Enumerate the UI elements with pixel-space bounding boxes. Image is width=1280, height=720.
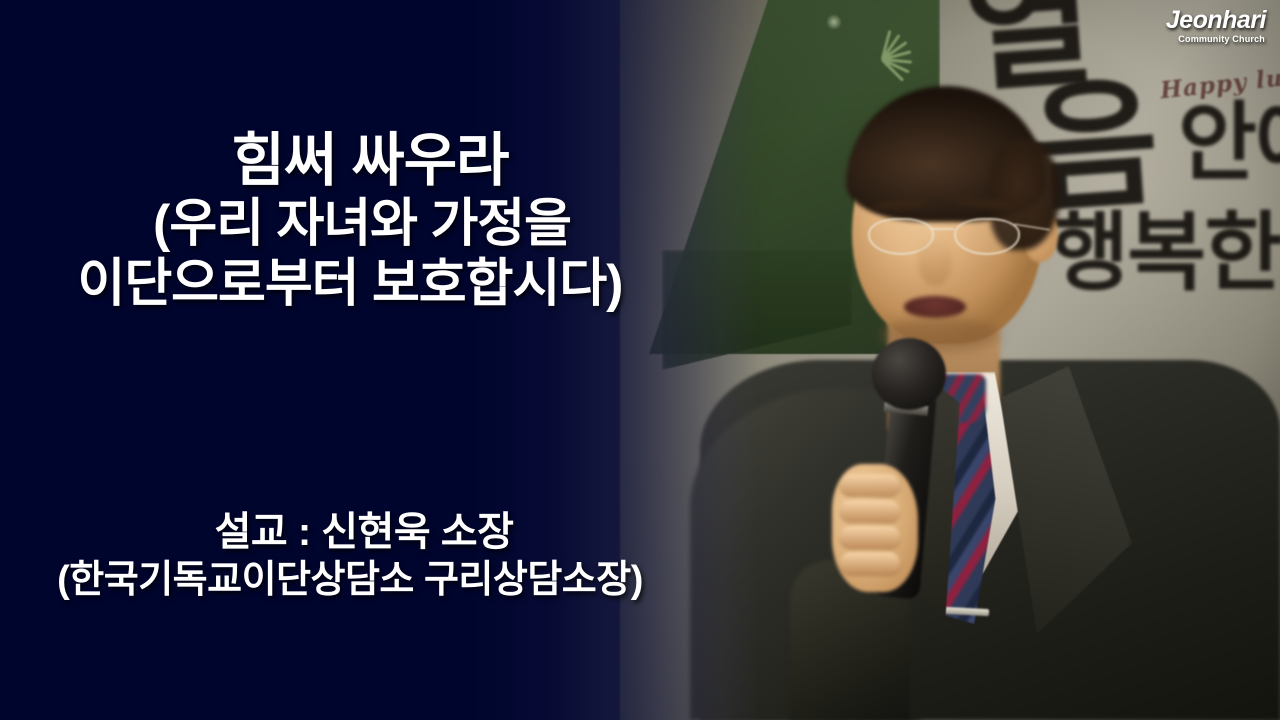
speaker-finger: [840, 526, 900, 548]
sermon-title-slide: 열 음 안에 행복한 Happy lun: [0, 0, 1280, 720]
eyeglass-bridge: [930, 228, 954, 230]
speaker-finger: [840, 474, 900, 496]
church-logo-subtitle: Community Church: [1166, 35, 1265, 44]
church-logo: Jeonhari Community Church: [1166, 8, 1266, 44]
sermon-title-line-3: 이단으로부터 보호합시다): [0, 254, 700, 314]
sermon-title-line-2: (우리 자녀와 가정을: [0, 194, 700, 254]
sermon-title-line-1: 힘써 싸우라: [0, 128, 700, 194]
speaker-finger: [840, 500, 900, 522]
eyeglass-lens-right: [954, 218, 1020, 255]
speaker-finger: [840, 552, 900, 574]
speaker-mouth: [904, 296, 966, 318]
speaker-affiliation-line: (한국기독교이단상담소 구리상담소장): [0, 557, 700, 603]
church-logo-name: Jeonhari: [1166, 8, 1266, 33]
speaker-hand: [832, 464, 918, 592]
speaker-nose: [918, 238, 952, 286]
speaker-name-line: 설교 : 신현욱 소장: [0, 508, 700, 557]
microphone-head-icon: [872, 338, 946, 410]
sermon-title: 힘써 싸우라 (우리 자녀와 가정을 이단으로부터 보호합시다): [0, 128, 700, 315]
speaker-credit: 설교 : 신현욱 소장 (한국기독교이단상담소 구리상담소장): [0, 508, 700, 603]
navy-solid-panel: [0, 0, 470, 720]
